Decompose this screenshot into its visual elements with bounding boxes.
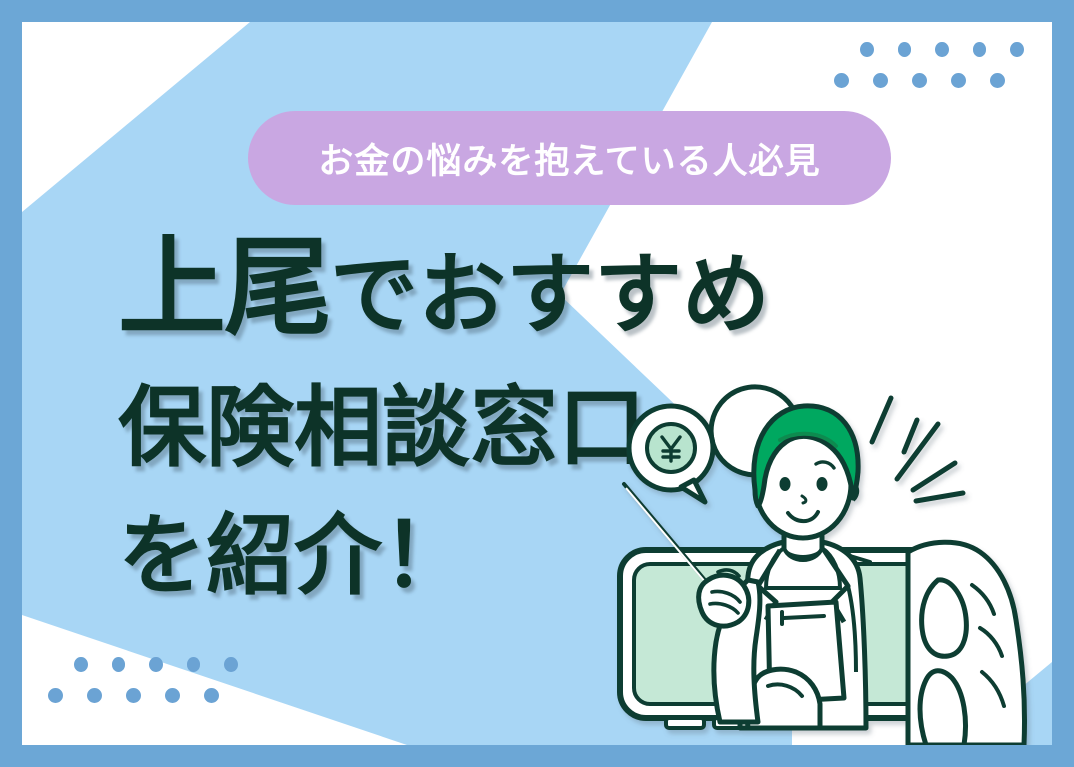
holding-hand bbox=[908, 542, 1025, 745]
banner-stage: お金の悩みを抱えている人必見 上尾でおすすめ 保険相談窓口 を紹介！ bbox=[22, 22, 1052, 745]
dot bbox=[48, 688, 63, 703]
dot bbox=[951, 73, 966, 88]
banner-canvas: お金の悩みを抱えている人必見 上尾でおすすめ 保険相談窓口 を紹介！ bbox=[0, 0, 1074, 767]
advisor-illustration bbox=[608, 380, 1052, 745]
dot bbox=[860, 42, 874, 57]
dot bbox=[204, 688, 219, 703]
dot-row bbox=[48, 688, 238, 703]
dot bbox=[935, 42, 949, 57]
dot bbox=[1010, 42, 1024, 57]
dot bbox=[126, 688, 141, 703]
dot bbox=[224, 657, 238, 672]
dot bbox=[834, 73, 849, 88]
dot-row bbox=[74, 657, 238, 672]
dot bbox=[187, 657, 201, 672]
dot bbox=[898, 42, 912, 57]
catchphrase-badge: お金の悩みを抱えている人必見 bbox=[248, 111, 891, 205]
dot-grid-bottom-left bbox=[48, 657, 238, 719]
dot bbox=[87, 688, 102, 703]
emphasis-lines-icon bbox=[872, 398, 963, 501]
dot-grid-top-right bbox=[834, 42, 1024, 104]
dot bbox=[973, 42, 987, 57]
headline-city: 上尾 bbox=[118, 227, 330, 348]
headline-line-1-rest: でおすすめ bbox=[330, 245, 770, 344]
catchphrase-badge-text: お金の悩みを抱えている人必見 bbox=[318, 133, 820, 184]
dot bbox=[990, 73, 1005, 88]
headline-line-1: 上尾でおすすめ bbox=[118, 234, 838, 342]
dot bbox=[112, 657, 126, 672]
dot bbox=[74, 657, 88, 672]
dot-row bbox=[834, 73, 1024, 88]
dot bbox=[912, 73, 927, 88]
dot-row bbox=[860, 42, 1024, 57]
dot bbox=[149, 657, 163, 672]
dot bbox=[873, 73, 888, 88]
dot bbox=[165, 688, 180, 703]
